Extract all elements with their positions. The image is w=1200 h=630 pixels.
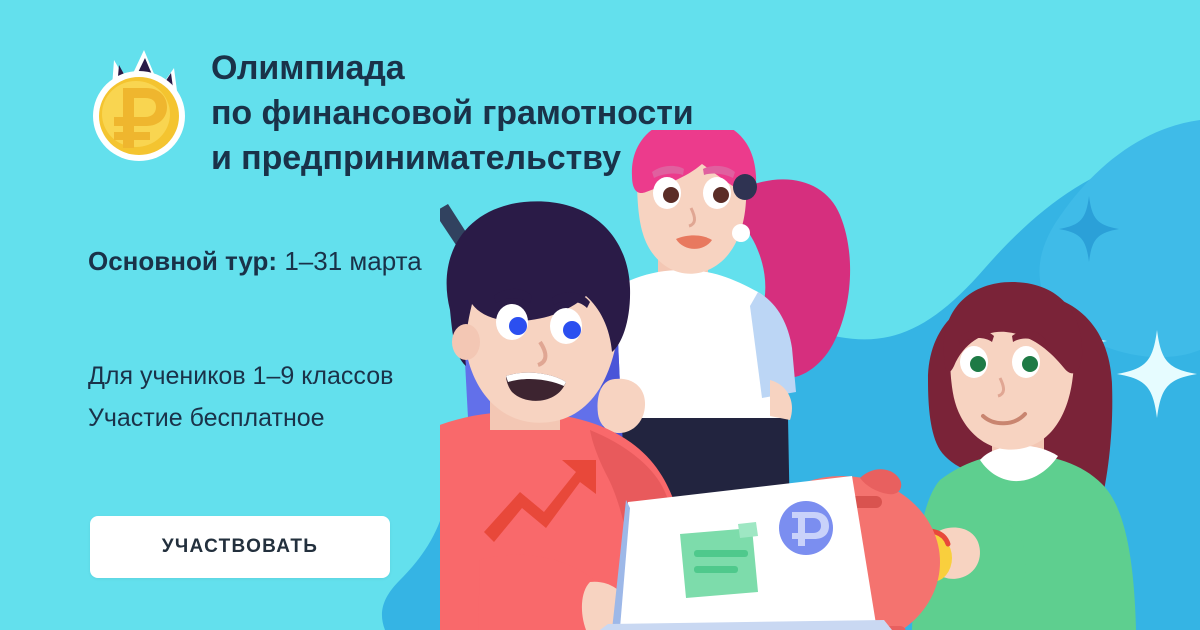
pupil-right	[1022, 356, 1038, 372]
eligibility-info: Для учеников 1–9 классов Участие бесплат…	[88, 355, 393, 439]
banner-content: Олимпиада по финансовой грамотности и пр…	[0, 0, 640, 630]
free-participation-line: Участие бесплатное	[88, 397, 393, 439]
pupil-right	[713, 187, 729, 203]
title-line-3: и предпринимательству	[211, 136, 694, 181]
main-round-label: Основной тур:	[88, 246, 277, 276]
title-line-2: по финансовой грамотности	[211, 91, 694, 136]
main-round-dates: 1–31 марта	[277, 246, 422, 276]
main-round-info: Основной тур: 1–31 марта	[88, 246, 422, 277]
ruble-coin-crown-icon	[90, 44, 195, 164]
hair-tie	[733, 174, 757, 200]
participate-button[interactable]: УЧАСТВОВАТЬ	[90, 516, 390, 578]
pupil-left	[970, 356, 986, 372]
header-row: Олимпиада по финансовой грамотности и пр…	[90, 42, 694, 181]
girl-with-piggybank	[912, 282, 1136, 630]
page-title: Олимпиада по финансовой грамотности и пр…	[211, 42, 694, 181]
pupil-left	[663, 187, 679, 203]
ruble-coin-icon	[779, 501, 833, 555]
green-note-icon	[680, 522, 758, 598]
earring	[732, 224, 750, 242]
title-line-1: Олимпиада	[211, 46, 694, 91]
promo-banner: Олимпиада по финансовой грамотности и пр…	[0, 0, 1200, 630]
grades-line: Для учеников 1–9 классов	[88, 355, 393, 397]
